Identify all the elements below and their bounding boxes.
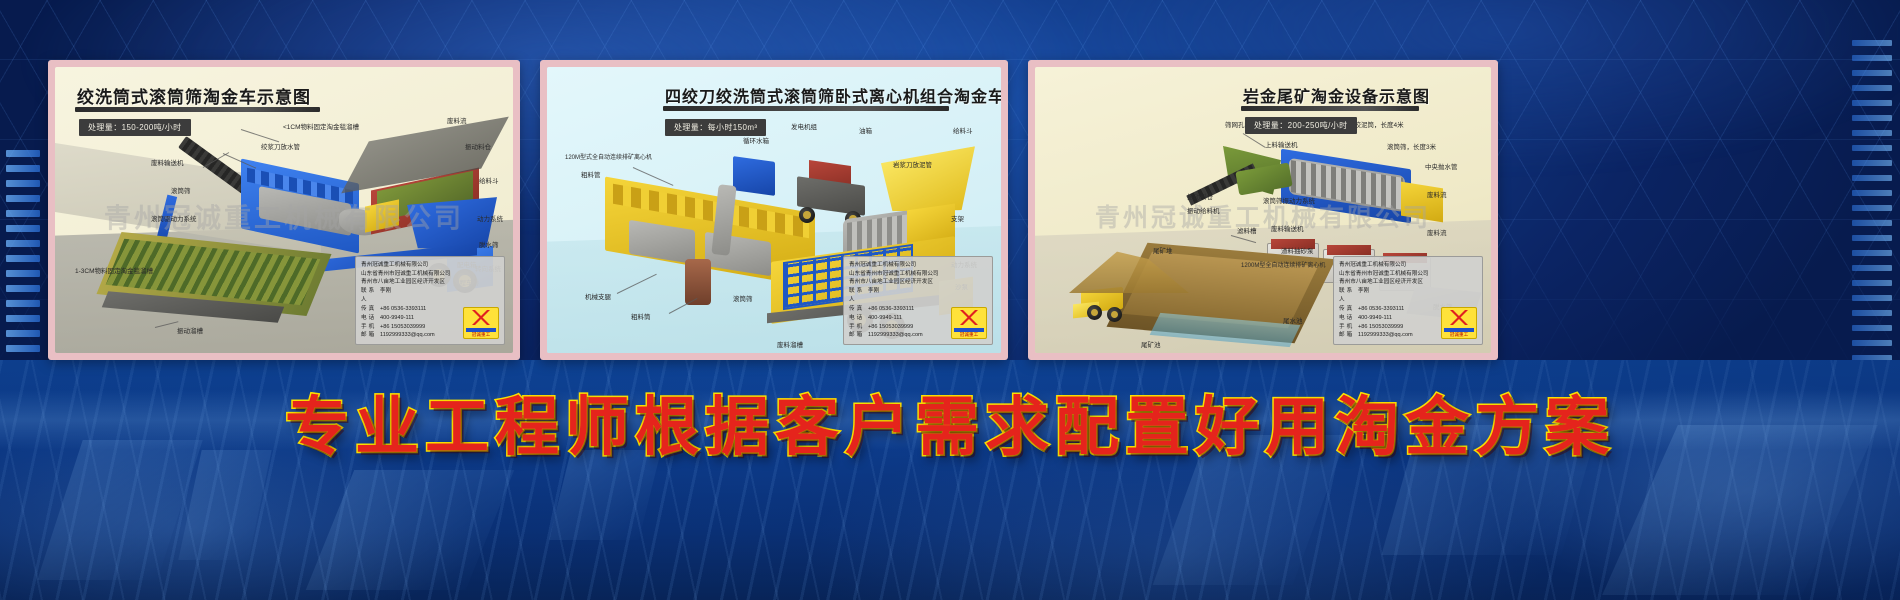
contact-key: 电话: [361, 314, 377, 323]
contact-key: 手机: [361, 323, 377, 332]
loader-wheel-2: [1107, 307, 1122, 322]
contact-value: 1192999333@qq.com: [1358, 331, 1413, 340]
logo-text: 冠诚重工: [464, 331, 498, 338]
contact-key: 电话: [849, 314, 865, 323]
callout-1-1: <1CM物料固定淘金毯溜槽: [283, 125, 359, 132]
callout-3-15: 尾矿堆: [1153, 249, 1173, 256]
callout-1-5: 废料输送机: [151, 161, 184, 168]
callout-3-5: 中央抛水管: [1425, 165, 1458, 172]
callout-1-2: 绞浆刀放水管: [261, 145, 300, 152]
contact-key: 传真: [849, 305, 865, 314]
callout-2-14: 废料溜槽: [777, 343, 803, 350]
panel-2-title: 四绞刀绞洗筒式滚筒筛卧式离心机组合淘金车示意图: [665, 83, 1001, 107]
contact-key: 电话: [1339, 314, 1355, 323]
callout-2-4: 给料斗: [953, 129, 973, 136]
contact-person-name: 李刚: [380, 287, 391, 304]
contact-value: +86 15053039999: [868, 323, 913, 332]
callout-1-10: 滚筒驱动力系统: [151, 217, 197, 224]
contact-person-name: 李刚: [868, 287, 879, 304]
contact-key: 手机: [849, 323, 865, 332]
callout-2-3: 油箱: [859, 129, 872, 136]
contact-company-alt: 山东省青州市冠诚重工机械有限公司: [1339, 270, 1477, 279]
callout-3-9: 废料流: [1427, 193, 1447, 200]
callout-1-7: 给料斗: [479, 179, 499, 186]
contact-person-label: 联系人: [361, 287, 377, 304]
contact-value: +86 0536-3393111: [868, 305, 914, 314]
callout-2-2: 发电机组: [791, 125, 817, 132]
generator-wheel-1: [799, 207, 815, 223]
callout-2-9: 滚筒筛: [733, 297, 753, 304]
diagram-panel-3[interactable]: 青州冠诚重工机械有限公司 筛网孔径3CM 多绞刀绞泥筒，长度4米 上料输送机 滚…: [1028, 60, 1498, 360]
contact-value: +86 15053039999: [1358, 323, 1403, 332]
panel-2-title-rule: [663, 106, 949, 111]
callout-3-13: 废料流: [1427, 231, 1447, 238]
panel-3-spec-badge: 处理量：200-250吨/小时: [1245, 117, 1357, 134]
callout-3-7: 振动给料机: [1187, 209, 1220, 216]
logo-text: 冠诚重工: [952, 331, 986, 338]
callout-3-17: 尾水池: [1283, 319, 1303, 326]
main-headline: 专业工程师根据客户需求配置好用淘金方案: [285, 376, 1615, 468]
contact-value: +86 0536-3393111: [380, 305, 426, 314]
centrifuge-3-2-top: [1327, 245, 1371, 255]
contact-person-name: 李刚: [1358, 287, 1369, 304]
callout-3-12: 渣料抽砂泵: [1281, 249, 1314, 256]
callout-2-12: 机械支腿: [585, 295, 611, 302]
contact-key: 邮箱: [361, 331, 377, 340]
headline-container: 专业工程师根据客户需求配置好用淘金方案: [0, 372, 1900, 472]
contact-person-label: 联系人: [849, 287, 865, 304]
callout-3-3: 上料输送机: [1265, 143, 1298, 150]
callout-1-14: 1-3CM物料固定淘金毯溜槽: [75, 269, 153, 276]
diagram-panel-1[interactable]: 青州冠诚重工机械有限公司 <1CM物料固定淘金毯溜槽 绞浆刀放水管 废料流 振动…: [48, 60, 520, 360]
company-logo-icon: 冠诚重工: [463, 307, 499, 339]
panel-3-title-rule: [1241, 106, 1419, 111]
callout-3-8: 滚筒筛振动力系统: [1263, 199, 1315, 206]
fuel-tank-1: [685, 259, 711, 305]
loader-wheel-1: [1087, 305, 1102, 320]
contact-key: 手机: [1339, 323, 1355, 332]
panel-2-contact-card: 青州冠诚重工机械有限公司 山东省青州市冠诚重工机械有限公司 青州市八亩地工业园区…: [843, 256, 993, 345]
callout-2-10: 粗料筒: [631, 315, 651, 322]
callout-2-1: 循环水箱: [743, 139, 769, 146]
callout-2-6: 支架: [951, 217, 964, 224]
contact-company: 青州冠诚重工机械有限公司: [1339, 261, 1477, 270]
contact-company-alt: 山东省青州市冠诚重工机械有限公司: [361, 270, 499, 279]
company-logo-icon: 冠诚重工: [1441, 307, 1477, 339]
panel-1-title-rule: [75, 107, 320, 112]
callout-1-8: 动力系统: [477, 217, 503, 224]
contact-key: 传真: [1339, 305, 1355, 314]
callout-1-4: 振动料仓: [465, 145, 491, 152]
contact-value: +86 0536-3393111: [1358, 305, 1404, 314]
contact-address: 青州市八亩地工业园区经济开发区: [849, 278, 987, 287]
contact-person-label: 联系人: [1339, 287, 1355, 304]
diagram-panels: 青州冠诚重工机械有限公司 <1CM物料固定淘金毯溜槽 绞浆刀放水管 废料流 振动…: [0, 0, 1900, 430]
banner-stage: 青州冠诚重工机械有限公司 <1CM物料固定淘金毯溜槽 绞浆刀放水管 废料流 振动…: [0, 0, 1900, 600]
diagram-panel-2[interactable]: 循环水箱 发电机组 油箱 给料斗 岩浆刀放泥管 支架 动力系统 沙泵 滚筒筛 粗…: [540, 60, 1008, 360]
trommel-discharge: [1401, 182, 1443, 223]
callout-3-6: 振动料仓: [1187, 195, 1213, 202]
callout-1-9: 脱水筛: [479, 243, 499, 250]
contact-address: 青州市八亩地工业园区经济开发区: [1339, 278, 1477, 287]
panel-3-title: 岩金尾矿淘金设备示意图: [1243, 83, 1430, 107]
contact-company: 青州冠诚重工机械有限公司: [849, 261, 987, 270]
callout-3-4: 滚筒筛，长度3米: [1387, 145, 1436, 152]
callout-1-3: 废料流: [447, 119, 467, 126]
panel-3-contact-card: 青州冠诚重工机械有限公司 山东省青州市冠诚重工机械有限公司 青州市八亩地工业园区…: [1333, 256, 1483, 345]
callout-3-18: 尾矿池: [1141, 343, 1161, 350]
contact-value: 1192999333@qq.com: [868, 331, 923, 340]
panel-1-title: 绞洗筒式滚筒筛淘金车示意图: [77, 83, 311, 108]
contact-key: 邮箱: [849, 331, 865, 340]
water-tank: [733, 156, 775, 196]
logo-text: 冠诚重工: [1442, 331, 1476, 338]
contact-value: 400-9949-111: [868, 314, 902, 323]
callout-1-15: 振动溜槽: [177, 329, 203, 336]
contact-company: 青州冠诚重工机械有限公司: [361, 261, 499, 270]
panel-1-contact-card: 青州冠诚重工机械有限公司 山东省青州市冠诚重工机械有限公司 青州市八亩地工业园区…: [355, 256, 505, 345]
panel-1-spec-badge: 处理量：150-200吨/小时: [79, 119, 191, 136]
callout-2-13: 120M型式全自动连续排矿离心机: [565, 155, 652, 161]
callout-3-10: 滤料槽: [1237, 229, 1257, 236]
contact-key: 传真: [361, 305, 377, 314]
callout-1-6: 滚筒筛: [171, 189, 191, 196]
contact-value: 1192999333@qq.com: [380, 331, 435, 340]
panel-2-spec-badge: 处理量：每小时150m³: [665, 119, 766, 136]
contact-value: 400-9949-111: [1358, 314, 1392, 323]
callout-2-5: 岩浆刀放泥管: [893, 163, 932, 170]
company-logo-icon: 冠诚重工: [951, 307, 987, 339]
contact-company-alt: 山东省青州市冠诚重工机械有限公司: [849, 270, 987, 279]
callout-3-11: 废料输送机: [1271, 227, 1304, 234]
contact-address: 青州市八亩地工业园区经济开发区: [361, 278, 499, 287]
contact-value: 400-9949-111: [380, 314, 414, 323]
callout-3-14: 1200M型全自动连续排矿离心机: [1241, 263, 1325, 269]
contact-value: +86 15053039999: [380, 323, 425, 332]
callout-2-11: 粗料管: [581, 173, 601, 180]
contact-key: 邮箱: [1339, 331, 1355, 340]
